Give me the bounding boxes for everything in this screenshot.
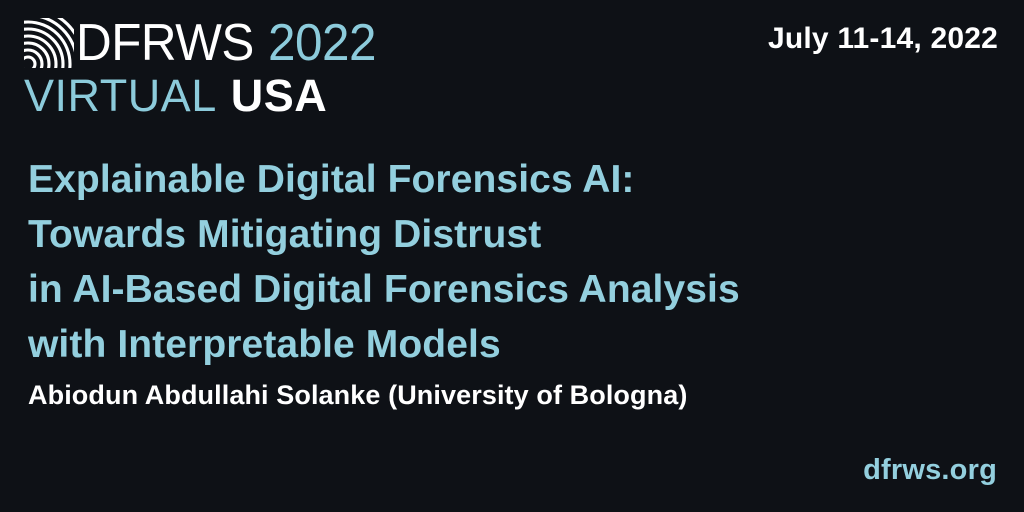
title-line-1: Explainable Digital Forensics AI: (28, 152, 908, 207)
wordmark-year: 2022 (268, 18, 376, 68)
title-line-3: in AI-Based Digital Forensics Analysis (28, 262, 908, 317)
author-affiliation: Abiodun Abdullahi Solanke (University of… (28, 379, 687, 411)
brand-lockup: DFRWS 2022 VIRTUAL USA (24, 18, 382, 120)
title-line-4: with Interpretable Models (28, 317, 908, 372)
fingerprint-icon (24, 18, 74, 68)
brand-region-label: USA (231, 72, 328, 120)
page-title: Explainable Digital Forensics AI: Toward… (28, 152, 908, 372)
event-date: July 11-14, 2022 (768, 22, 998, 56)
site-url-link[interactable]: dfrws.org (863, 454, 997, 486)
conference-title-slide: DFRWS 2022 VIRTUAL USA July 11-14, 2022 … (0, 0, 1024, 512)
dfrws-wordmark: DFRWS 2022 (76, 18, 382, 68)
title-line-2: Towards Mitigating Distrust (28, 207, 908, 262)
brand-secondary-row: VIRTUAL USA (24, 72, 382, 120)
brand-mode-label: VIRTUAL (24, 72, 217, 120)
wordmark-text: DFRWS (76, 18, 254, 68)
brand-primary-row: DFRWS 2022 (24, 18, 382, 70)
